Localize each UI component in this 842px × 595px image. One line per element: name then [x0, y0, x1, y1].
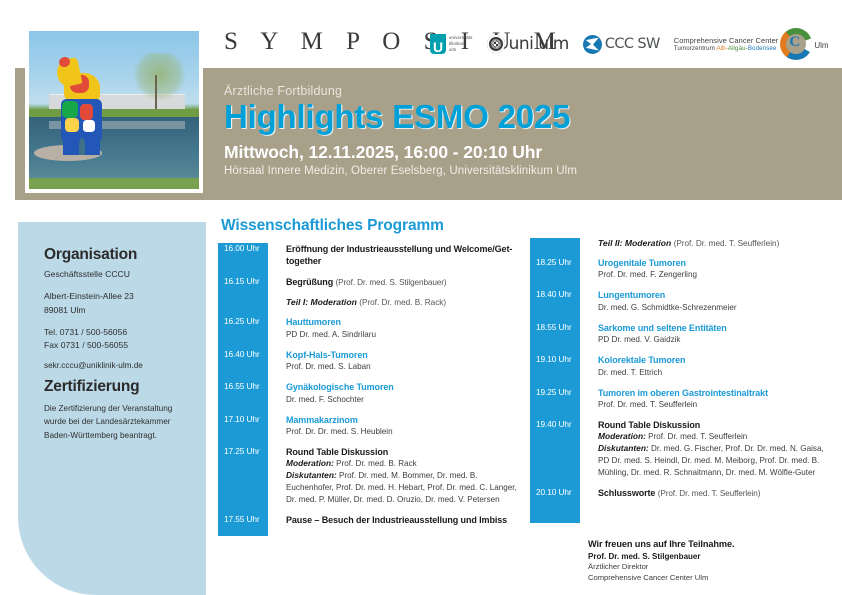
hero-kicker: Ärztliche Fortbildung: [224, 84, 577, 98]
program-row-speaker: Prof. Dr. Dr. med. S. Heublein: [286, 426, 518, 437]
program-row-spacer: [268, 340, 518, 349]
program-rows-left: 16.00 UhrEröffnung der Industrieausstell…: [268, 243, 518, 526]
program-row: 16.15 UhrBegrüßung (Prof. Dr. med. S. St…: [268, 276, 518, 288]
program-row-time: 17.10 Uhr: [218, 414, 268, 424]
program-row: Teil I: Moderation (Prof. Dr. med. B. Ra…: [268, 297, 518, 307]
program-row-speaker: Prof. Dr. med. S. Laban: [286, 361, 518, 372]
program-row-spacer: [268, 267, 518, 276]
organisation-heading: Organisation: [44, 246, 194, 264]
program-row-title: Hauttumoren: [286, 316, 518, 328]
program-row-time: 18.25 Uhr: [530, 257, 580, 267]
program-row-entry: Pause – Besuch der Industrieausstellung …: [268, 514, 518, 526]
info-sidebar: Organisation Geschäftsstelle CCCU Albert…: [18, 222, 206, 595]
program-row-entry: Teil I: Moderation (Prof. Dr. med. B. Ra…: [268, 297, 518, 307]
program-row-entry: HauttumorenPD Dr. med. A. Sindrilaru: [268, 316, 518, 339]
uni-ulm-logo-text: uni ulm: [509, 34, 569, 54]
program-row: 16.25 UhrHauttumorenPD Dr. med. A. Sindr…: [268, 316, 518, 339]
uniklinik-u-mark: U: [430, 34, 446, 54]
program-row-entry: Eröffnung der Industrieausstellung und W…: [268, 243, 518, 267]
program-row-title: Lungentumoren: [598, 289, 835, 301]
hero-venue: Hörsaal Innere Medizin, Oberer Eselsberg…: [224, 165, 577, 177]
hero-date: Mittwoch, 12.11.2025, 16:00 - 20:10 Uhr: [224, 142, 577, 163]
program-row-title-note: (Prof. Dr. med. T. Seufferlein): [658, 489, 761, 498]
program-row-spacer: [268, 405, 518, 414]
page-title: Highlights ESMO 2025: [224, 99, 577, 136]
organisation-contact: Tel. 0731 / 500-56056 Fax 0731 / 500-560…: [44, 326, 194, 353]
program-row: 17.55 UhrPause – Besuch der Industrieaus…: [268, 514, 518, 526]
uniklinik-ulm-logo: U universitäts klinikum ulm: [430, 34, 473, 54]
program-row-entry: Sarkome und seltene EntitätenPD Dr. med.…: [580, 322, 835, 345]
program-row: 20.10 UhrSchlussworte (Prof. Dr. med. T.…: [580, 487, 835, 499]
ccc-ulm-l2-allgaeu: Allgäu-: [728, 45, 748, 52]
program-row-entry: Begrüßung (Prof. Dr. med. S. Stilgenbaue…: [268, 276, 518, 288]
photo-foreground-grass: [29, 178, 199, 189]
program-row-title: Begrüßung (Prof. Dr. med. S. Stilgenbaue…: [286, 276, 518, 288]
program-row-time: 16.25 Uhr: [218, 316, 268, 326]
program-row-title: Round Table Diskussion: [598, 419, 835, 431]
program-row-time: 17.25 Uhr: [218, 446, 268, 456]
elephant-sculpture-photo: [29, 31, 199, 189]
program-row-speaker: PD Dr. med. A. Sindrilaru: [286, 329, 518, 340]
time-bar-right: [530, 238, 580, 523]
program-row: 18.40 UhrLungentumorenDr. med. G. Schmid…: [580, 289, 835, 312]
program-row-spacer: [268, 437, 518, 446]
program-row-time: 16.00 Uhr: [218, 243, 268, 253]
program-row-time: 16.40 Uhr: [218, 349, 268, 359]
program-row: 18.55 UhrSarkome und seltene EntitätenPD…: [580, 322, 835, 345]
program-heading: Wissenschaftliches Programm: [221, 217, 444, 235]
program-row-spacer: [268, 288, 518, 297]
program-row: 19.40 UhrRound Table DiskussionModeratio…: [580, 419, 835, 478]
program-row-title: Gynäkologische Tumoren: [286, 381, 518, 393]
email-link[interactable]: sekr.cccu@uniklinik-ulm.de: [44, 361, 194, 370]
ccc-sw-logo: CCC SW: [583, 35, 660, 54]
uniklinik-line-3: ulm: [449, 47, 473, 53]
program-row: Teil II: Moderation (Prof. Dr. med. T. S…: [580, 238, 835, 248]
program-row-title: Schlussworte (Prof. Dr. med. T. Seufferl…: [598, 487, 835, 499]
program-row: 16.55 UhrGynäkologische TumorenDr. med. …: [268, 381, 518, 404]
program-row-time: 19.40 Uhr: [530, 419, 580, 429]
uni-ulm-seal-icon: [487, 35, 505, 53]
program-row-time: 16.15 Uhr: [218, 276, 268, 286]
program-row-speaker: Dr. med. F. Schochter: [286, 394, 518, 405]
ccc-ulm-l2-bodensee: Bodensee: [748, 45, 777, 52]
program-row-time: 19.10 Uhr: [530, 354, 580, 364]
program-row-spacer: [580, 378, 835, 387]
ccc-sw-mark-icon: [583, 35, 602, 54]
program-row-spacer: [580, 280, 835, 289]
program-row-entry: Round Table DiskussionModeration: Prof. …: [268, 446, 518, 505]
organisation-address: Albert-Einstein-Allee 23 89081 Ulm: [44, 290, 194, 317]
program-row-title-note: (Prof. Dr. med. S. Stilgenbauer): [336, 278, 447, 287]
ccc-ulm-ring-icon: C: [780, 28, 812, 60]
program-row-title: Round Table Diskussion: [286, 446, 518, 458]
program-row-speaker: Prof. Dr. med. F. Zengerling: [598, 269, 835, 280]
program-row-entry: Kolorektale TumorenDr. med. T. Ettrich: [580, 354, 835, 377]
program-row-discussants-line: Diskutanten: Prof. Dr. med. M. Bommer, D…: [286, 470, 518, 505]
program-row-entry: Tumoren im oberen GastrointestinaltraktP…: [580, 387, 835, 410]
elephant-leg-gap: [79, 138, 85, 156]
program-row-time: 20.10 Uhr: [530, 487, 580, 497]
header-photo: [25, 27, 203, 193]
program-row-time: 17.55 Uhr: [218, 514, 268, 524]
program-row-spacer: [580, 410, 835, 419]
program-row-speaker: Dr. med. T. Ettrich: [598, 367, 835, 378]
program-row-entry: MammakarzinomProf. Dr. Dr. med. S. Heubl…: [268, 414, 518, 437]
program-row: 19.25 UhrTumoren im oberen Gastrointesti…: [580, 387, 835, 410]
program-row-spacer: [580, 248, 835, 257]
program-row-title: Tumoren im oberen Gastrointestinaltrakt: [598, 387, 835, 399]
phone-line: Tel. 0731 / 500-56056: [44, 326, 194, 339]
program-row-spacer: [580, 478, 835, 487]
program-row-moderation-note: (Prof. Dr. med. T. Seufferlein): [674, 239, 780, 248]
program-row-moderator-line: Moderation: Prof. Dr. med. T. Seufferlei…: [598, 431, 835, 443]
ccc-ulm-l2-plain: Tumorzentrum: [674, 45, 717, 52]
zertifizierung-block: Zertifizierung Die Zertifizierung der Ve…: [44, 378, 196, 442]
program-row-time: 18.55 Uhr: [530, 322, 580, 332]
ccc-ulm-ring-word: Ulm: [814, 41, 828, 50]
program-column-left: 16.00 UhrEröffnung der Industrieausstell…: [218, 243, 518, 526]
program-row-moderation-note: (Prof. Dr. med. B. Rack): [359, 298, 446, 307]
organisation-block: Organisation Geschäftsstelle CCCU Albert…: [44, 246, 194, 370]
photo-grass: [29, 109, 199, 117]
zertifizierung-text: Die Zertifizierung der Veranstaltung wur…: [44, 402, 196, 442]
ccc-ulm-logo: Comprehensive Cancer Center Tumorzentrum…: [674, 28, 829, 60]
program-row: 19.10 UhrKolorektale TumorenDr. med. T. …: [580, 354, 835, 377]
program-row-entry: Kopf-Hals-TumorenProf. Dr. med. S. Laban: [268, 349, 518, 372]
program-row-spacer: [268, 307, 518, 316]
program-row: 17.25 UhrRound Table DiskussionModeratio…: [268, 446, 518, 505]
program-row-entry: Teil II: Moderation (Prof. Dr. med. T. S…: [580, 238, 835, 248]
program-row-entry: Round Table DiskussionModeration: Prof. …: [580, 419, 835, 478]
program-row-spacer: [268, 505, 518, 514]
photo-tree: [134, 53, 185, 100]
elephant-patch-white: [83, 120, 95, 132]
ccc-sw-logo-text: CCC SW: [605, 36, 660, 52]
program-row-time: 16.55 Uhr: [218, 381, 268, 391]
program-row: 17.10 UhrMammakarzinomProf. Dr. Dr. med.…: [268, 414, 518, 437]
closing-org: Comprehensive Cancer Center Ulm: [588, 572, 838, 583]
program-row-title: Urogenitale Tumoren: [598, 257, 835, 269]
program-row-moderation: Teil II: Moderation (Prof. Dr. med. T. S…: [598, 238, 835, 248]
program-row-spacer: [268, 372, 518, 381]
ccc-ulm-l2-alb: Alb-: [716, 45, 727, 52]
program-row-title: Sarkome und seltene Entitäten: [598, 322, 835, 334]
program-row-entry: Gynäkologische TumorenDr. med. F. Schoch…: [268, 381, 518, 404]
elephant-patch-red: [80, 104, 93, 120]
program-rows-right: Teil II: Moderation (Prof. Dr. med. T. S…: [580, 238, 835, 499]
program-row-entry: LungentumorenDr. med. G. Schmidtke-Schre…: [580, 289, 835, 312]
uniklinik-logo-text: universitäts klinikum ulm: [449, 35, 473, 52]
uni-ulm-logo: uni ulm: [487, 34, 569, 54]
photo-elephant: [56, 59, 107, 157]
program-row-entry: Urogenitale TumorenProf. Dr. med. F. Zen…: [580, 257, 835, 280]
program-row-title: Pause – Besuch der Industrieausstellung …: [286, 514, 518, 526]
program-row-time: 19.25 Uhr: [530, 387, 580, 397]
program-column-right: Teil II: Moderation (Prof. Dr. med. T. S…: [530, 238, 835, 499]
program-row-moderator-line: Moderation: Prof. Dr. med. B. Rack: [286, 458, 518, 470]
closing-block: Wir freuen uns auf Ihre Teilnahme. Prof.…: [588, 539, 838, 583]
logo-bar: U universitäts klinikum ulm uni ulm CCC …: [430, 26, 829, 62]
elephant-patch-green: [62, 101, 77, 119]
program-row-speaker: Prof. Dr. med. T. Seufferlein: [598, 399, 835, 410]
program-row-speaker: PD Dr. med. V. Gaidzik: [598, 334, 835, 345]
program-row-time: 18.40 Uhr: [530, 289, 580, 299]
fax-line: Fax 0731 / 500-56055: [44, 339, 194, 352]
ccc-ulm-line-1: Comprehensive Cancer Center: [674, 36, 779, 45]
program-row-discussants-line: Diskutanten: Dr. med. G. Fischer, Prof. …: [598, 443, 835, 478]
closing-heading: Wir freuen uns auf Ihre Teilnahme.: [588, 539, 838, 549]
zertifizierung-heading: Zertifizierung: [44, 378, 196, 396]
hero-block: Ärztliche Fortbildung Highlights ESMO 20…: [224, 84, 577, 177]
program-row-spacer: [580, 313, 835, 322]
organisation-office: Geschäftsstelle CCCU: [44, 268, 194, 281]
program-row-speaker: Dr. med. G. Schmidtke-Schrezenmeier: [598, 302, 835, 313]
address-line-1: Albert-Einstein-Allee 23: [44, 290, 194, 303]
program-row: 16.40 UhrKopf-Hals-TumorenProf. Dr. med.…: [268, 349, 518, 372]
program-row-entry: Schlussworte (Prof. Dr. med. T. Seufferl…: [580, 487, 835, 499]
program-row-spacer: [580, 345, 835, 354]
program-row: 16.00 UhrEröffnung der Industrieausstell…: [268, 243, 518, 267]
ring-letter: C: [789, 34, 800, 51]
ccc-ulm-logo-text: Comprehensive Cancer Center Tumorzentrum…: [674, 36, 779, 53]
poster-page: S Y M P O S I U M U universitäts kliniku…: [0, 0, 842, 595]
program-row-title: Kolorektale Tumoren: [598, 354, 835, 366]
program-row-title: Eröffnung der Industrieausstellung und W…: [286, 243, 518, 267]
elephant-patch-yellow: [65, 118, 78, 132]
program-row-moderation: Teil I: Moderation (Prof. Dr. med. B. Ra…: [286, 297, 518, 307]
ccc-ulm-line-2: Tumorzentrum Alb-Allgäu-Bodensee: [674, 45, 779, 53]
address-line-2: 89081 Ulm: [44, 304, 194, 317]
closing-role: Ärztlicher Direktor: [588, 561, 838, 572]
closing-name: Prof. Dr. med. S. Stilgenbauer: [588, 552, 838, 561]
program-row: 18.25 UhrUrogenitale TumorenProf. Dr. me…: [580, 257, 835, 280]
program-row-title: Mammakarzinom: [286, 414, 518, 426]
program-row-title: Kopf-Hals-Tumoren: [286, 349, 518, 361]
